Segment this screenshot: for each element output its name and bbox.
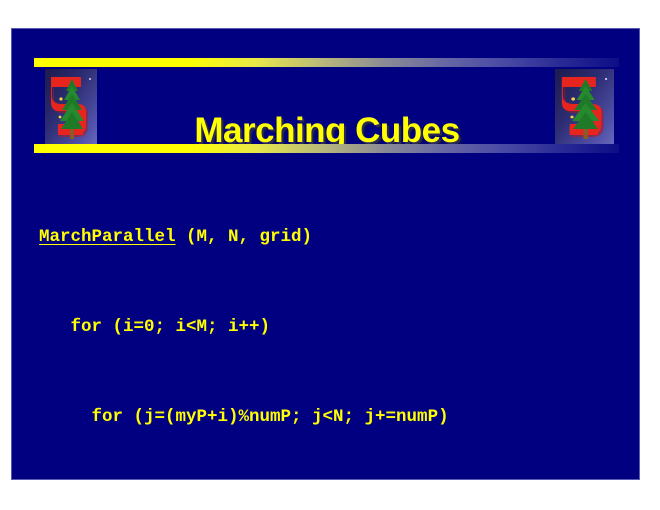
code-line-3: for (j=(myP+i)%numP; j<N; j+=numP) <box>39 402 629 432</box>
divider-bar-top <box>34 58 619 67</box>
code-line-1-args: (M, N, grid) <box>176 227 313 247</box>
code-line-2: for (i=0; i<M; i++) <box>39 312 629 342</box>
code-function-name: MarchParallel <box>39 227 176 247</box>
stanford-logo-left <box>45 69 97 147</box>
stanford-logo-right <box>555 69 614 147</box>
slide-code-block: MarchParallel (M, N, grid) for (i=0; i<M… <box>39 162 629 480</box>
stanford-tree-icon <box>45 69 97 147</box>
code-line-1: MarchParallel (M, N, grid) <box>39 222 629 252</box>
stanford-tree-icon <box>555 69 614 147</box>
slide-header: Marching Cubes <box>12 29 639 159</box>
divider-bar-bottom <box>34 144 619 153</box>
presentation-slide: Marching Cubes <box>11 28 640 480</box>
